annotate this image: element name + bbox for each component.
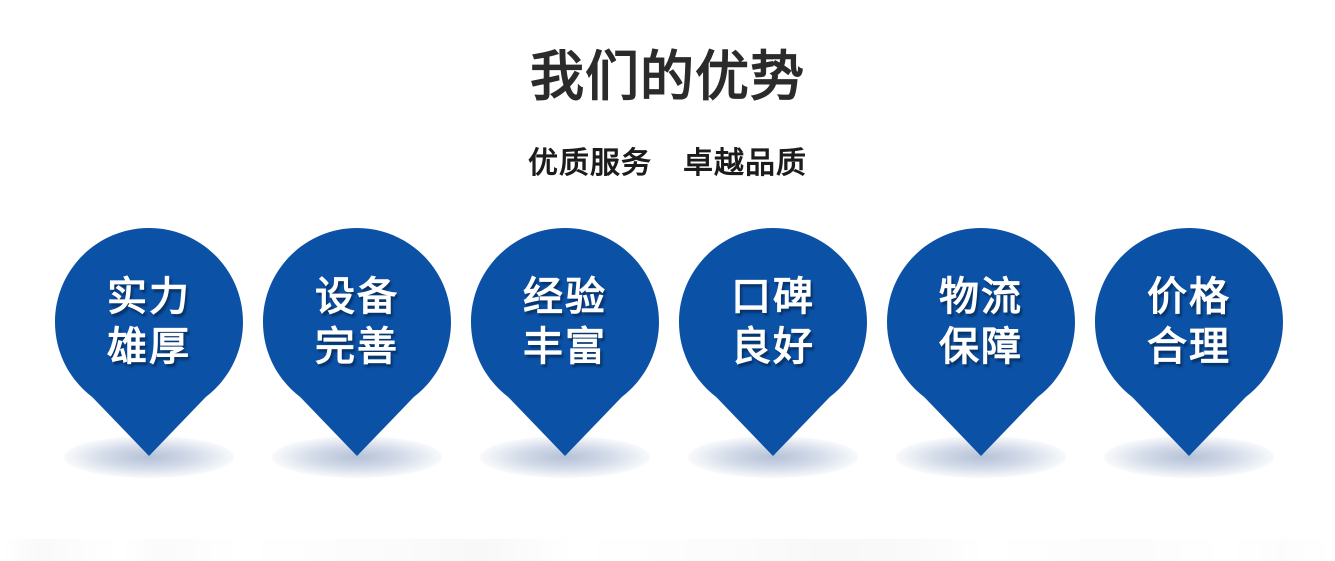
map-marker-icon bbox=[1095, 228, 1283, 456]
page-title: 我们的优势 bbox=[0, 46, 1335, 108]
map-marker-icon bbox=[887, 228, 1075, 456]
pin-experience[interactable]: 经验 丰富 bbox=[471, 228, 659, 490]
map-marker-icon bbox=[55, 228, 243, 456]
pin-reputation[interactable]: 口碑 良好 bbox=[679, 228, 867, 490]
pin-logistics[interactable]: 物流 保障 bbox=[887, 228, 1075, 490]
page-subtitle: 优质服务 卓越品质 bbox=[0, 144, 1335, 184]
map-marker-icon bbox=[471, 228, 659, 456]
pin-price[interactable]: 价格 合理 bbox=[1095, 228, 1283, 490]
pin-strength[interactable]: 实力 雄厚 bbox=[55, 228, 243, 490]
bottom-texture-band bbox=[0, 539, 1335, 561]
pin-equipment[interactable]: 设备 完善 bbox=[263, 228, 451, 490]
advantage-pin-row: 实力 雄厚 设备 完善 bbox=[55, 228, 1283, 490]
map-marker-icon bbox=[679, 228, 867, 456]
map-marker-icon bbox=[263, 228, 451, 456]
advantages-poster: 我们的优势 优质服务 卓越品质 实力 雄厚 bbox=[0, 0, 1335, 561]
